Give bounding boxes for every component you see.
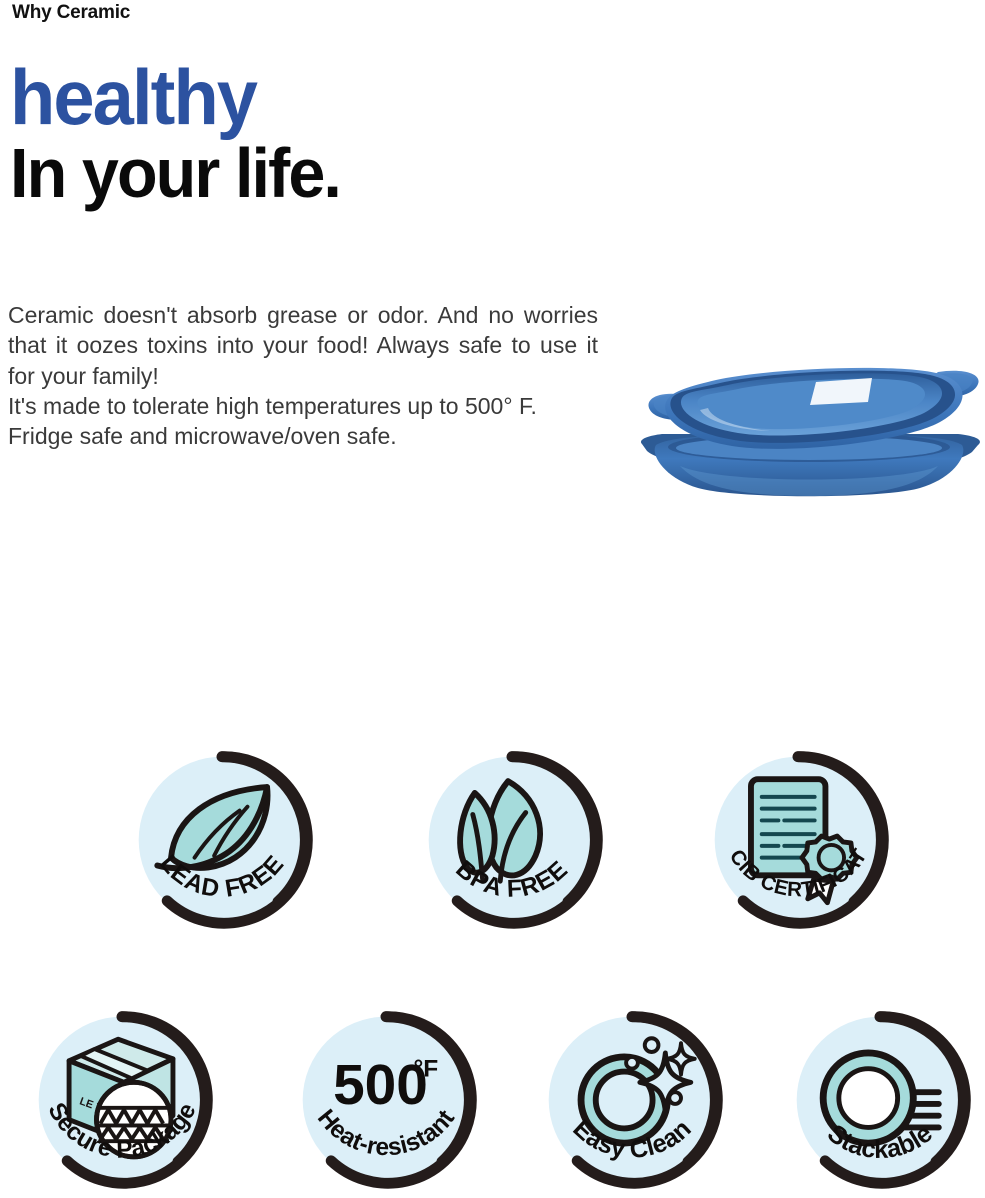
description-paragraph-2: It's made to tolerate high temperatures … — [8, 391, 598, 452]
badge-bpa-free-graphic: BPA FREE — [414, 742, 610, 938]
badge-bpa-free: BPA FREE — [414, 742, 610, 938]
product-feature-page: Why Ceramic healthy In your life. Cerami… — [0, 0, 985, 1198]
description-block: Ceramic doesn't absorb grease or odor. A… — [8, 300, 598, 452]
product-photo — [620, 326, 985, 526]
badge-stackable-graphic: Stackable — [782, 1002, 978, 1198]
badge-secure-package: LE TAU Secure Package — [24, 1002, 220, 1198]
badge-secure-package-graphic: LE TAU Secure Package — [24, 1002, 220, 1198]
temperature-icon: 500 °F — [333, 1054, 438, 1117]
badge-row-1: LEAD FREE BPA FREE — [0, 742, 985, 942]
badge-stackable: Stackable — [782, 1002, 978, 1198]
description-paragraph-1: Ceramic doesn't absorb grease or odor. A… — [8, 300, 598, 391]
badge-row-2: LE TAU Secure Package — [0, 1002, 985, 1198]
ceramic-dishes-illustration — [620, 326, 985, 526]
badge-heat-resistant: 500 °F Heat-resistant — [288, 1002, 484, 1198]
badge-lead-free-graphic: LEAD FREE — [124, 742, 320, 938]
badge-heat-resistant-graphic: 500 °F Heat-resistant — [288, 1002, 484, 1198]
temperature-unit: °F — [413, 1055, 438, 1082]
headline-main-line: In your life. — [10, 140, 599, 207]
headline-accent-line: healthy — [10, 62, 599, 134]
page-title: Why Ceramic — [12, 2, 130, 24]
badge-lead-free: LEAD FREE — [124, 742, 320, 938]
badge-ccib-certificate-graphic: CCIB CERTIFICATE — [700, 742, 896, 938]
badge-ccib-certificate: CCIB CERTIFICATE — [700, 742, 896, 938]
badge-easy-clean-graphic: Easy Clean — [534, 1002, 730, 1198]
badge-easy-clean: Easy Clean — [534, 1002, 730, 1198]
headline-block: healthy In your life. — [10, 62, 630, 206]
